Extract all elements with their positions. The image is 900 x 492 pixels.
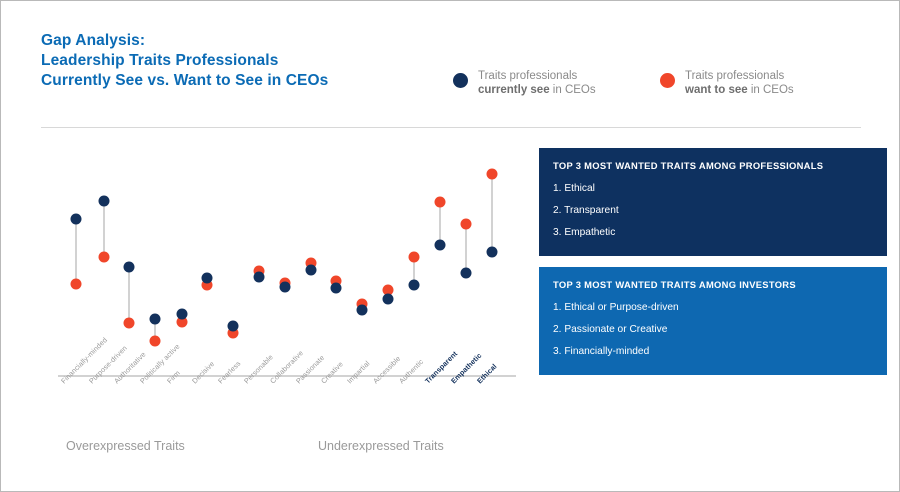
- data-point-currently-see: [487, 247, 498, 258]
- legend-tail: in CEOs: [748, 84, 794, 96]
- legend-tail: in CEOs: [550, 84, 596, 96]
- data-point-currently-see: [409, 280, 420, 291]
- panel-list-item: 3. Empathetic: [553, 227, 873, 238]
- data-point-currently-see: [383, 294, 394, 305]
- infographic-page: Gap Analysis: Leadership Traits Professi…: [0, 0, 900, 492]
- legend-label-currently-see: Traits professionals currently see in CE…: [478, 69, 596, 97]
- panel-list-item: 1. Ethical: [553, 183, 873, 194]
- panel-title: TOP 3 MOST WANTED TRAITS AMONG PROFESSIO…: [553, 160, 873, 171]
- data-point-currently-see: [124, 262, 135, 273]
- header-divider: [41, 127, 861, 128]
- legend-dot-red-icon: [660, 73, 675, 88]
- legend-dot-navy-icon: [453, 73, 468, 88]
- gap-connector-line: [491, 174, 493, 252]
- panel-top-traits-investors: TOP 3 MOST WANTED TRAITS AMONG INVESTORS…: [539, 267, 887, 375]
- data-point-want-to-see: [124, 318, 135, 329]
- data-point-currently-see: [177, 309, 188, 320]
- panel-list-item: 2. Passionate or Creative: [553, 324, 873, 335]
- data-point-currently-see: [99, 196, 110, 207]
- gap-connector-line: [465, 224, 467, 273]
- data-point-want-to-see: [409, 252, 420, 263]
- legend-item-currently-see: Traits professionals currently see in CE…: [453, 69, 596, 97]
- data-point-currently-see: [150, 314, 161, 325]
- title-line-2: Leadership Traits Professionals: [41, 51, 461, 71]
- page-title: Gap Analysis: Leadership Traits Professi…: [41, 31, 461, 91]
- data-point-want-to-see: [435, 197, 446, 208]
- panel-top-traits-professionals: TOP 3 MOST WANTED TRAITS AMONG PROFESSIO…: [539, 148, 887, 256]
- legend-line-1: Traits professionals: [478, 70, 577, 82]
- gap-connector-line: [75, 219, 77, 284]
- data-point-want-to-see: [99, 252, 110, 263]
- chart-legend: Traits professionals currently see in CE…: [453, 69, 863, 109]
- data-point-currently-see: [71, 214, 82, 225]
- panel-list-item: 3. Financially-minded: [553, 346, 873, 357]
- legend-emphasis: want to see: [685, 84, 748, 96]
- data-point-currently-see: [331, 283, 342, 294]
- data-point-currently-see: [435, 240, 446, 251]
- data-point-currently-see: [254, 272, 265, 283]
- legend-emphasis: currently see: [478, 84, 550, 96]
- data-point-currently-see: [461, 268, 472, 279]
- gap-connector-line: [128, 267, 130, 323]
- title-line-3: Currently See vs. Want to See in CEOs: [41, 71, 461, 91]
- panel-list-item: 2. Transparent: [553, 205, 873, 216]
- data-point-want-to-see: [487, 169, 498, 180]
- legend-item-want-to-see: Traits professionals want to see in CEOs: [660, 69, 794, 97]
- title-line-1: Gap Analysis:: [41, 31, 461, 51]
- panel-list-item: 1. Ethical or Purpose-driven: [553, 302, 873, 313]
- data-point-want-to-see: [461, 219, 472, 230]
- group-label-underexpressed: Underexpressed Traits: [318, 439, 444, 453]
- gap-connector-line: [103, 201, 105, 257]
- legend-label-want-to-see: Traits professionals want to see in CEOs: [685, 69, 794, 97]
- data-point-currently-see: [228, 321, 239, 332]
- data-point-currently-see: [202, 273, 213, 284]
- x-axis-line: [58, 375, 516, 377]
- data-point-currently-see: [306, 265, 317, 276]
- dumbbell-plot: [56, 141, 516, 376]
- data-point-want-to-see: [71, 279, 82, 290]
- group-label-overexpressed: Overexpressed Traits: [66, 439, 185, 453]
- panel-title: TOP 3 MOST WANTED TRAITS AMONG INVESTORS: [553, 279, 873, 290]
- legend-line-1: Traits professionals: [685, 70, 784, 82]
- data-point-currently-see: [357, 305, 368, 316]
- data-point-want-to-see: [150, 336, 161, 347]
- data-point-currently-see: [280, 282, 291, 293]
